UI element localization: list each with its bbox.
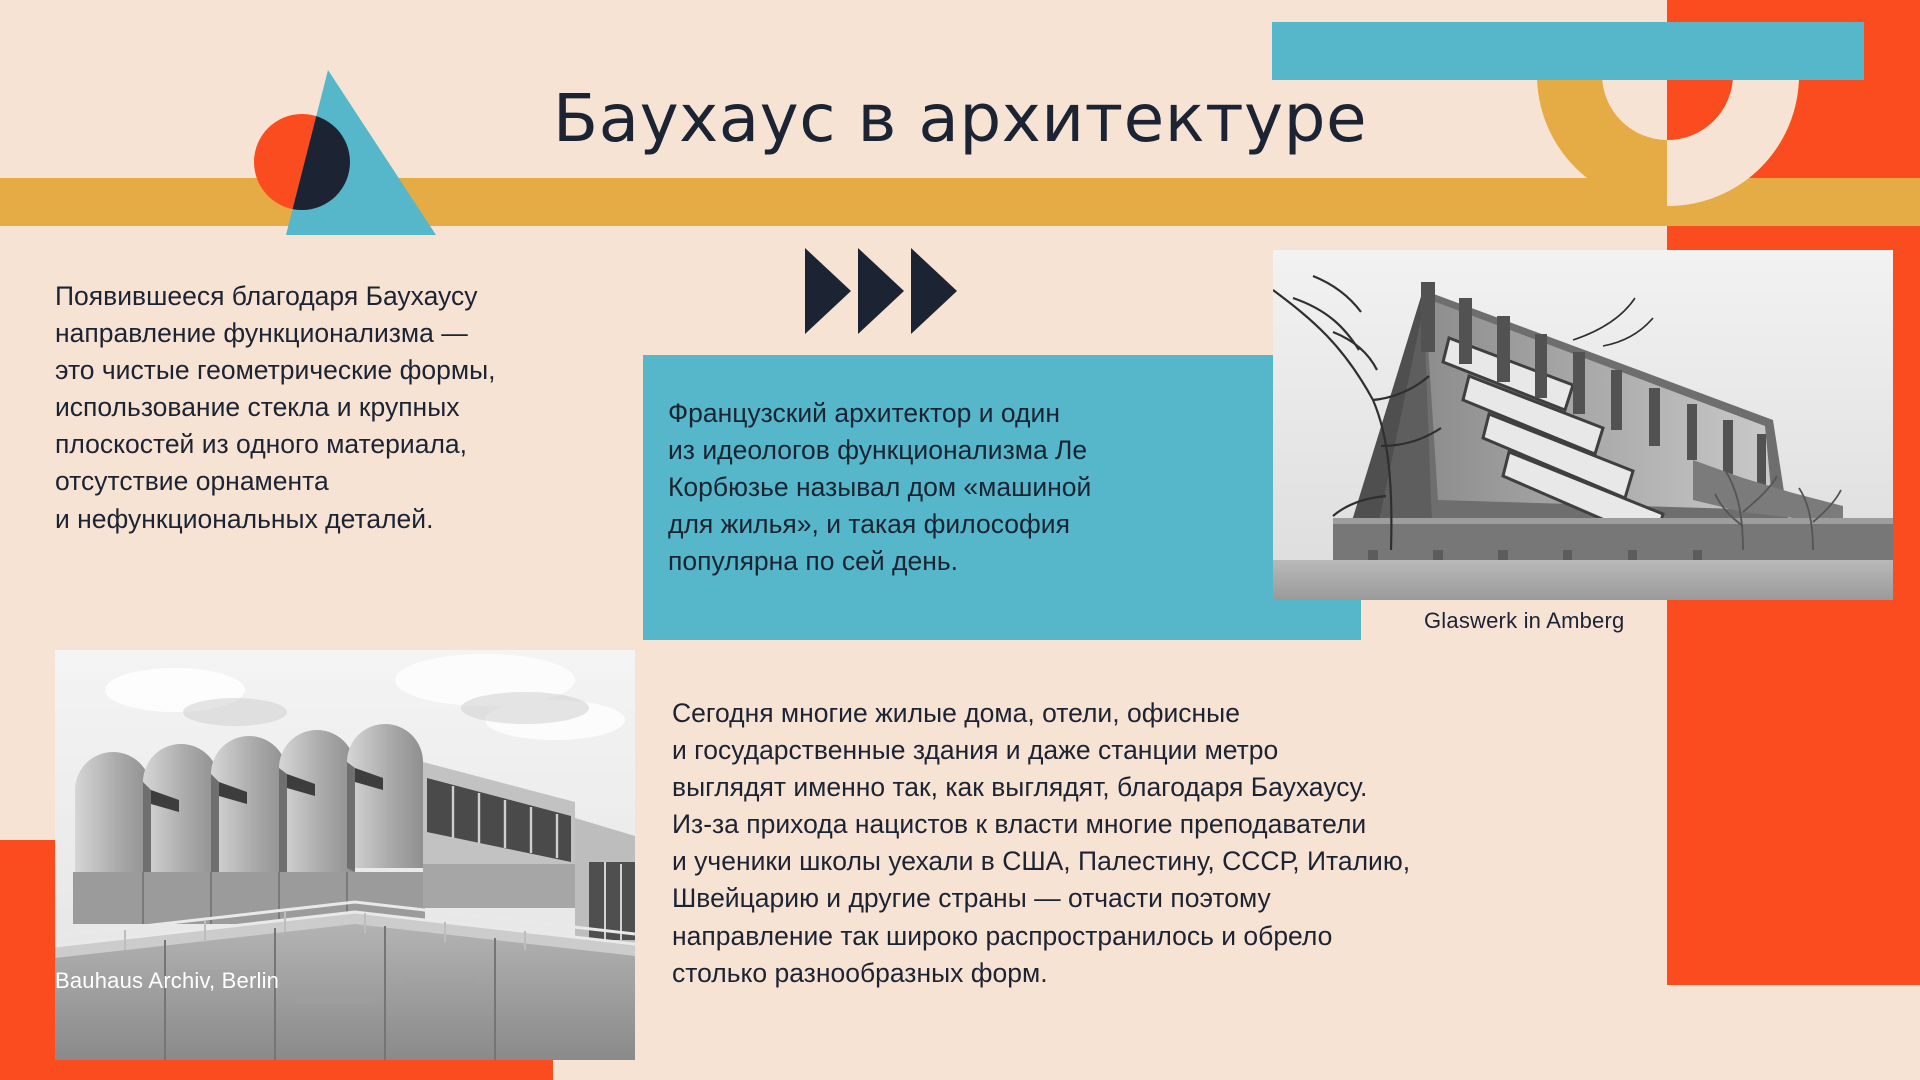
caption-bauhaus-archiv: Bauhaus Archiv, Berlin xyxy=(55,968,279,994)
triangle-right-icon xyxy=(858,248,904,334)
paragraph-left: Появившееся благодаря Баухаусу направлен… xyxy=(55,278,655,538)
photo-glaswerk-amberg xyxy=(1273,250,1893,600)
presentation-slide: Баухаус в архитектуре Французский архите… xyxy=(0,0,1920,1080)
triple-arrow-decoration xyxy=(805,248,965,334)
caption-glaswerk: Glaswerk in Amberg xyxy=(1424,608,1624,634)
slide-title: Баухаус в архитектуре xyxy=(0,80,1920,157)
arch-foot-overlay xyxy=(1667,178,1799,226)
paragraph-bottom: Сегодня многие жилые дома, отели, офисны… xyxy=(672,695,1622,992)
paragraph-teal: Французский архитектор и один из идеолог… xyxy=(668,395,1348,580)
triangle-right-icon xyxy=(805,248,851,334)
photo-bauhaus-archiv xyxy=(55,650,635,1060)
triangle-right-icon xyxy=(911,248,957,334)
teal-bar-top-right xyxy=(1272,22,1864,80)
